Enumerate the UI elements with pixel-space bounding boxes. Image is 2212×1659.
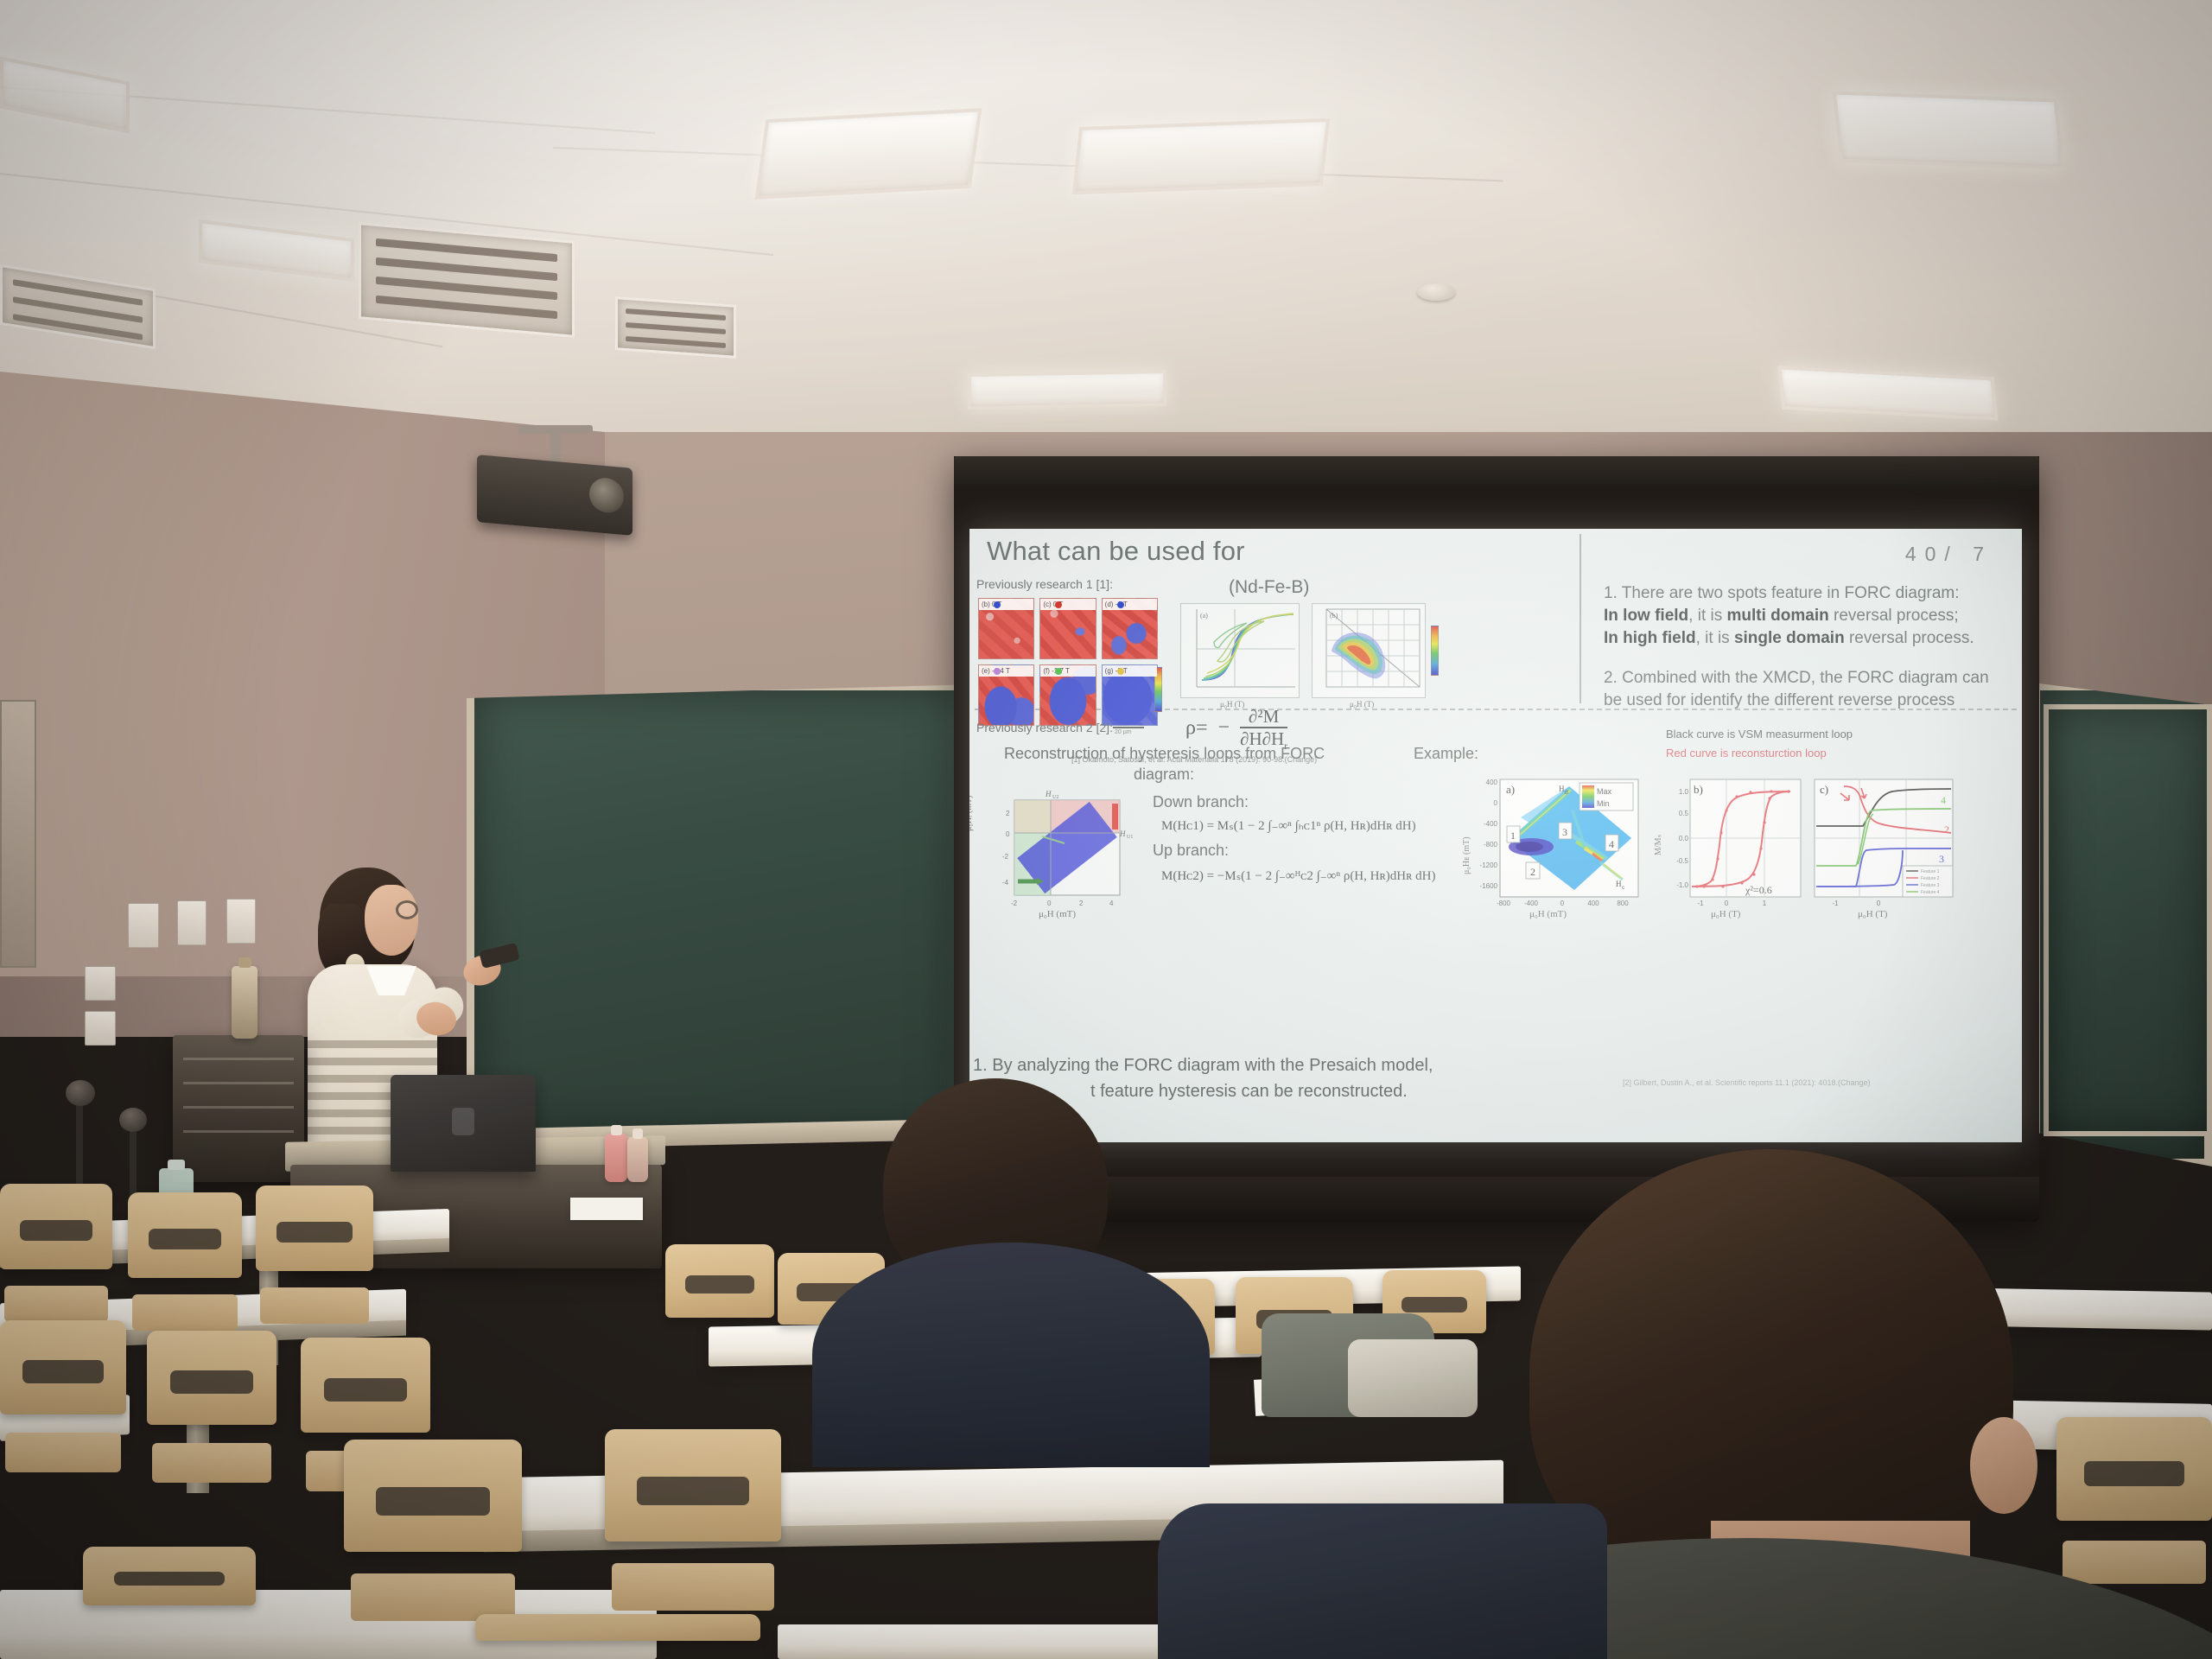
blackboard-right-inner	[2044, 704, 2212, 1136]
forc-curves-plot: (a)	[1180, 603, 1300, 698]
svg-text:0.0: 0.0	[1679, 835, 1689, 842]
wall-outlet[interactable]	[177, 900, 207, 945]
svg-text:4: 4	[1941, 794, 1946, 806]
loop-panel-b-svg: b) χ²=0.6 1.00.50.0 -0.5-1.0 -101	[1661, 772, 1808, 925]
loop-panel-c-xlabel: μ₀H (T)	[1858, 909, 1887, 919]
forc-panel-a-ylabel: μ₀Hᴇ (mT)	[1462, 836, 1471, 874]
svg-text:Feature 2: Feature 2	[1921, 876, 1940, 881]
svg-text:-1200: -1200	[1480, 861, 1498, 869]
curve-note-red: Red curve is reconsturction loop	[1666, 747, 1827, 760]
microphone-head[interactable]	[119, 1108, 147, 1132]
rho-numerator: ∂²M	[1240, 707, 1287, 728]
ceiling-light-panel	[968, 370, 1166, 410]
ceiling-vent	[615, 296, 736, 359]
svg-text:H: H	[1616, 880, 1622, 888]
svg-text:400: 400	[1486, 779, 1498, 786]
micrograph-tag: (f) -1.7 T	[1040, 665, 1095, 677]
finding-1-line3-bold-a: In high field	[1604, 629, 1696, 647]
loop-panel-b: b) χ²=0.6 1.00.50.0 -0.5-1.0 -101	[1661, 772, 1808, 925]
preisach-ylabel: μ₀Hᵣ (mT)	[969, 796, 974, 831]
loop-panel-c-svg: c) 4 2 3 Feature 1Feature 2 Feature 3Fea…	[1806, 772, 1961, 925]
field-marker-dot	[994, 668, 1001, 675]
field-marker-dot	[994, 601, 1001, 608]
svg-text:-1: -1	[1697, 899, 1704, 907]
example-label: Example:	[1414, 745, 1478, 763]
svg-text:3: 3	[1939, 853, 1944, 865]
finding-1: 1. There are two spots feature in FORC d…	[1604, 582, 2010, 649]
down-branch-equation: M(Hᴄ1) = Mₛ(1 − 2 ∫₋∞ⁿ ∫ₕᴄ1ⁿ ρ(H, Hʀ)dHʀ…	[1161, 817, 1416, 834]
svg-text:400: 400	[1587, 899, 1599, 907]
screen-case-top	[954, 456, 2039, 491]
presenter-glasses	[396, 900, 418, 919]
projector-mount-plate	[518, 425, 593, 434]
svg-text:U2: U2	[1052, 795, 1058, 800]
section2-label: Previously research 2 [2]:	[976, 721, 1113, 734]
section2-heading-line1: Reconstruction of hysteresis loops from …	[1004, 745, 1325, 763]
finding-1-line3-plain-b: reversal process.	[1845, 629, 1974, 647]
water-bottle[interactable]	[627, 1137, 648, 1182]
finding-1-line3-plain-a: , it is	[1696, 629, 1734, 647]
svg-text:-1: -1	[1832, 899, 1839, 907]
svg-text:2: 2	[1944, 823, 1949, 836]
svg-text:2: 2	[1530, 866, 1535, 878]
micrograph-cell: (d) -1 T	[1102, 598, 1158, 659]
wall-switch[interactable]	[85, 966, 116, 1001]
svg-text:B: B	[1565, 791, 1568, 796]
plot-b-xlabel: μ₀H (T)	[1350, 700, 1374, 709]
finding-2-number: 2.	[1604, 669, 1618, 687]
paper-sheet[interactable]	[570, 1198, 643, 1220]
svg-text:χ²=0.6: χ²=0.6	[1745, 884, 1772, 896]
audience-ear	[1970, 1417, 2037, 1514]
svg-text:2: 2	[1079, 899, 1084, 907]
svg-text:-800: -800	[1497, 899, 1511, 907]
up-branch-label: Up branch:	[1153, 842, 1229, 860]
forc-panel-a-xlabel: μ₀H (mT)	[1529, 909, 1567, 919]
svg-text:-800: -800	[1484, 841, 1498, 849]
svg-text:-400: -400	[1484, 820, 1498, 828]
micrograph-tag: (c) 0 T	[1040, 599, 1095, 610]
loop-panel-b-xlabel: μ₀H (T)	[1711, 909, 1740, 919]
svg-text:Min: Min	[1597, 799, 1610, 808]
micrograph-scalebar-label: 20 μm	[1115, 729, 1132, 735]
ceiling-light-panel	[755, 108, 982, 200]
audience-shoulders	[812, 1243, 1210, 1467]
presenter-face	[365, 885, 418, 956]
micrograph-tag: (g) -2 T	[1103, 665, 1157, 677]
svg-text:c: c	[1622, 886, 1624, 891]
micrograph-cell: (e) -1.4 T	[978, 664, 1034, 726]
citation-2: [2] Gilbert, Dustin A., et al. Scientifi…	[1623, 1078, 1870, 1087]
forc-panel-a: 12 34 Max Min a) H B H c 4000-400 -8	[1469, 772, 1649, 925]
finding-2: 2. Combined with the XMCD, the FORC diag…	[1604, 667, 2015, 712]
svg-text:1.0: 1.0	[1679, 788, 1689, 796]
svg-text:Feature 3: Feature 3	[1921, 883, 1940, 888]
finding-1-line1: There are two spots feature in FORC diag…	[1622, 584, 1960, 602]
presentation-slide: What can be used for 40/ 7 Previously re…	[969, 529, 2022, 1142]
finding-1-number: 1.	[1604, 584, 1618, 602]
svg-text:Max: Max	[1597, 787, 1612, 796]
svg-text:-1.0: -1.0	[1676, 881, 1688, 889]
chair[interactable]	[83, 1547, 256, 1659]
slide-vertical-divider	[1580, 534, 1581, 703]
rho-lhs: ρ=	[1185, 716, 1208, 739]
field-marker-dot	[1055, 668, 1062, 675]
svg-text:0: 0	[1725, 899, 1729, 907]
smoke-detector	[1417, 283, 1455, 301]
svg-text:0.5: 0.5	[1679, 810, 1689, 817]
chair[interactable]	[475, 1614, 760, 1659]
svg-text:H: H	[1045, 790, 1052, 798]
lecture-hall-photo: What can be used for 40/ 7 Previously re…	[0, 0, 2212, 1659]
svg-text:2: 2	[1006, 810, 1010, 817]
chair[interactable]	[605, 1429, 781, 1645]
audience-member	[829, 1078, 1192, 1441]
ceiling-light-panel	[1072, 118, 1330, 194]
svg-text:-0.5: -0.5	[1676, 857, 1688, 865]
forc-diagram-svg: (b)	[1313, 604, 1427, 699]
svg-text:U1: U1	[1127, 835, 1133, 840]
svg-text:1: 1	[1763, 899, 1767, 907]
svg-text:0: 0	[1006, 830, 1010, 838]
chair[interactable]	[256, 1185, 373, 1350]
micrograph-tag: (d) -1 T	[1103, 599, 1157, 610]
wall-switch[interactable]	[85, 1011, 116, 1046]
micrograph-cell: (b) 0 T	[978, 598, 1034, 659]
ceiling-light-panel	[1833, 91, 2065, 169]
micrograph-grid: (b) 0 T (c) 0 T (d) -1 T (e) -1.4 T (f) …	[978, 598, 1158, 726]
section1-label: Previously research 1 [1]:	[976, 577, 1113, 591]
micrograph-tag: (e) -1.4 T	[979, 665, 1033, 677]
ceiling-vent	[359, 222, 575, 338]
wall-outlet[interactable]	[226, 899, 256, 944]
svg-text:-2: -2	[1002, 853, 1009, 861]
conclusion-line-1: 1. By analyzing the FORC diagram with th…	[973, 1054, 1433, 1077]
finding-1-line3-bold-b: single domain	[1734, 629, 1845, 647]
forc-curves-svg: (a)	[1181, 604, 1300, 699]
svg-text:-2: -2	[1011, 899, 1018, 907]
svg-text:b): b)	[1694, 783, 1703, 796]
micrograph-tag: (b) 0 T	[979, 599, 1033, 610]
svg-text:3: 3	[1562, 826, 1567, 838]
micrograph-cell: (f) -1.7 T	[1039, 664, 1096, 726]
micrograph-scalebar	[1113, 727, 1144, 728]
svg-text:4: 4	[1109, 899, 1114, 907]
svg-text:a): a)	[1506, 783, 1515, 796]
field-marker-dot	[1055, 601, 1062, 608]
loop-panel-c: c) 4 2 3 Feature 1Feature 2 Feature 3Fea…	[1806, 772, 1961, 925]
finding-2-line2: be used for identify the different rever…	[1604, 691, 1955, 709]
preisach-diagram: H U2 H U1 2 0 -2 -4 -2 0 2 4	[988, 788, 1137, 918]
water-bottle[interactable]	[605, 1134, 627, 1182]
curve-note-black: Black curve is VSM measurment loop	[1666, 728, 1853, 741]
svg-text:Feature 1: Feature 1	[1921, 869, 1940, 874]
finding-1-line2-bold-a: In low field	[1604, 607, 1688, 625]
svg-text:-4: -4	[1002, 879, 1009, 887]
field-marker-dot	[1117, 668, 1124, 675]
up-branch-equation: M(Hᴄ2) = −Mₛ(1 − 2 ∫₋∞ᴴᴄ2 ∫₋∞ⁿ ρ(H, Hʀ)d…	[1161, 868, 1436, 884]
presenter-laptop[interactable]	[391, 1075, 536, 1172]
loop-panel-b-ylabel: M/Mₛ	[1654, 835, 1663, 855]
forc-diagram-colorbar	[1431, 626, 1439, 676]
forc-diagram-plot: (b)	[1312, 603, 1426, 698]
door[interactable]	[0, 700, 36, 968]
finding-1-line2-plain-b: reversal process;	[1829, 607, 1959, 625]
svg-text:-400: -400	[1524, 899, 1539, 907]
forc-panel-a-svg: 12 34 Max Min a) H B H c 4000-400 -8	[1469, 772, 1649, 925]
material-label: (Nd-Fe-B)	[1229, 577, 1309, 598]
audience-jacket	[1158, 1503, 1607, 1659]
svg-text:Feature 4: Feature 4	[1921, 890, 1940, 895]
svg-text:H: H	[1119, 829, 1126, 838]
svg-text:800: 800	[1617, 899, 1629, 907]
preisach-svg: H U2 H U1 2 0 -2 -4 -2 0 2 4	[988, 788, 1137, 918]
water-bottle[interactable]	[232, 966, 257, 1039]
chair[interactable]	[0, 1320, 126, 1502]
svg-text:0: 0	[1877, 899, 1881, 907]
micrograph-cell: (c) 0 T	[1039, 598, 1096, 659]
svg-text:H: H	[1559, 785, 1565, 793]
chair[interactable]	[665, 1244, 774, 1386]
micrograph-cell: (g) -2 T	[1102, 664, 1158, 726]
section2-heading-line2: diagram:	[1134, 766, 1194, 784]
svg-text:0: 0	[1494, 799, 1498, 807]
rho-minus: −	[1218, 716, 1230, 739]
svg-text:0: 0	[1560, 899, 1565, 907]
svg-text:(b): (b)	[1330, 612, 1338, 620]
finding-1-line2-plain-a: , it is	[1688, 607, 1726, 625]
down-branch-label: Down branch:	[1153, 793, 1249, 811]
chair[interactable]	[147, 1331, 276, 1512]
svg-text:(a): (a)	[1200, 612, 1208, 620]
ceiling-projector	[477, 454, 632, 536]
finding-1-line2-bold-b: multi domain	[1727, 607, 1829, 625]
projector-mount-arm	[550, 430, 561, 463]
finding-2-line1: Combined with the XMCD, the FORC diagram…	[1622, 669, 1989, 687]
svg-text:-1600: -1600	[1480, 882, 1498, 890]
slide-title: What can be used for	[987, 536, 1245, 567]
svg-text:c): c)	[1820, 783, 1828, 796]
slide-page-number: 40/ 7	[1905, 543, 1993, 566]
field-marker-dot	[1117, 601, 1124, 608]
svg-text:0: 0	[1047, 899, 1052, 907]
wall-outlet[interactable]	[128, 903, 159, 948]
svg-text:4: 4	[1609, 838, 1614, 850]
svg-text:1: 1	[1510, 829, 1516, 842]
preisach-xlabel: μ₀H (mT)	[1039, 909, 1076, 919]
microphone-head[interactable]	[66, 1080, 95, 1106]
